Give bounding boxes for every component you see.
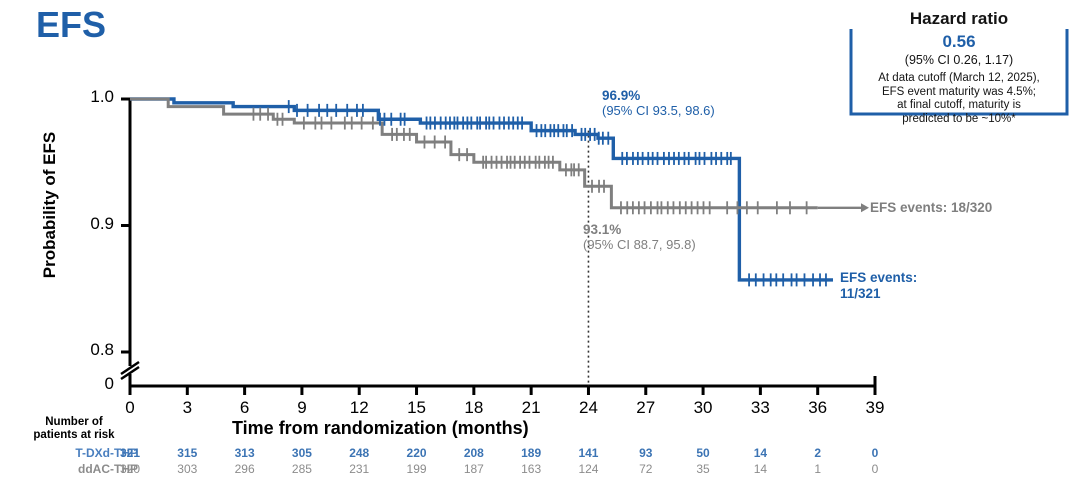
blue-events-line1: EFS events: xyxy=(840,270,917,286)
annotation-blue-milestone: 96.9% (95% CI 93.5, 98.6) xyxy=(602,88,715,118)
gray-milestone-ci: (95% CI 88.7, 95.8) xyxy=(583,237,696,252)
x-tick-label-9: 27 xyxy=(626,398,666,418)
risk-table-header: Number of patients at risk xyxy=(10,416,138,442)
x-tick-label-8: 24 xyxy=(568,398,608,418)
risk-cell-r0-c11: 14 xyxy=(740,446,780,460)
x-tick-label-1: 3 xyxy=(167,398,207,418)
risk-cell-r1-c1: 303 xyxy=(167,462,207,476)
axes-layer xyxy=(121,99,875,395)
x-tick-label-4: 12 xyxy=(339,398,379,418)
risk-cell-r0-c2: 313 xyxy=(225,446,265,460)
risk-header-line1: Number of xyxy=(10,416,138,429)
hazard-ratio-note: At data cutoff (March 12, 2025),EFS even… xyxy=(847,72,1071,126)
blue-milestone-percent: 96.9% xyxy=(602,88,715,103)
risk-cell-r1-c12: 1 xyxy=(798,462,838,476)
y-tick-label-0: 1.0 xyxy=(72,87,114,107)
risk-cell-r1-c5: 199 xyxy=(397,462,437,476)
y-axis-title: Probability of EFS xyxy=(40,95,60,315)
hazard-ratio-ci: (95% CI 0.26, 1.17) xyxy=(843,53,1075,67)
x-tick-label-11: 33 xyxy=(740,398,780,418)
hazard-note-line-1: EFS event maturity was 4.5%; xyxy=(847,86,1071,100)
risk-cell-r0-c1: 315 xyxy=(167,446,207,460)
x-tick-label-10: 30 xyxy=(683,398,723,418)
risk-cell-r1-c6: 187 xyxy=(454,462,494,476)
hazard-ratio-value: 0.56 xyxy=(843,32,1075,52)
risk-cell-r0-c5: 220 xyxy=(397,446,437,460)
y-tick-label-2: 0.8 xyxy=(72,340,114,360)
gray-milestone-percent: 93.1% xyxy=(583,222,696,237)
x-axis-title: Time from randomization (months) xyxy=(232,418,529,439)
x-tick-label-7: 21 xyxy=(511,398,551,418)
hazard-note-line-0: At data cutoff (March 12, 2025), xyxy=(847,72,1071,86)
hazard-ratio-title: Hazard ratio xyxy=(843,9,1075,29)
curves-layer xyxy=(130,99,833,280)
y-tick-label-3: 0 xyxy=(72,374,114,394)
risk-cell-r0-c3: 305 xyxy=(282,446,322,460)
y-tick-label-1: 0.9 xyxy=(72,214,114,234)
risk-cell-r1-c4: 231 xyxy=(339,462,379,476)
risk-header-line2: patients at risk xyxy=(10,429,138,442)
risk-cell-r1-c8: 124 xyxy=(568,462,608,476)
risk-cell-r0-c7: 189 xyxy=(511,446,551,460)
risk-cell-r1-c0: 320 xyxy=(110,462,150,476)
risk-cell-r0-c10: 50 xyxy=(683,446,723,460)
x-tick-label-6: 18 xyxy=(454,398,494,418)
risk-cell-r1-c7: 163 xyxy=(511,462,551,476)
risk-cell-r0-c0: 321 xyxy=(110,446,150,460)
risk-cell-r0-c6: 208 xyxy=(454,446,494,460)
x-tick-label-13: 39 xyxy=(855,398,895,418)
hazard-note-line-3: predicted to be ~10%* xyxy=(847,113,1071,127)
risk-cell-r1-c11: 14 xyxy=(740,462,780,476)
risk-cell-r1-c2: 296 xyxy=(225,462,265,476)
blue-events-label: EFS events: 11/321 xyxy=(840,270,917,302)
risk-cell-r1-c3: 285 xyxy=(282,462,322,476)
risk-cell-r1-c13: 0 xyxy=(855,462,895,476)
annotation-gray-milestone: 93.1% (95% CI 88.7, 95.8) xyxy=(583,222,696,252)
efs-kaplan-meier-figure: EFS Probability of EFS 1.00.90.80 Time f… xyxy=(0,0,1080,481)
blue-milestone-ci: (95% CI 93.5, 98.6) xyxy=(602,103,715,118)
risk-cell-r0-c12: 2 xyxy=(798,446,838,460)
risk-cell-r0-c8: 141 xyxy=(568,446,608,460)
leader-lines-layer xyxy=(818,203,869,280)
km-curve-T-DXd-THP xyxy=(130,99,833,280)
x-tick-label-12: 36 xyxy=(798,398,838,418)
risk-cell-r0-c13: 0 xyxy=(855,446,895,460)
risk-cell-r1-c9: 72 xyxy=(626,462,666,476)
risk-cell-r1-c10: 35 xyxy=(683,462,723,476)
x-tick-label-3: 9 xyxy=(282,398,322,418)
x-tick-label-2: 6 xyxy=(225,398,265,418)
risk-cell-r0-c4: 248 xyxy=(339,446,379,460)
hazard-note-line-2: at final cutoff, maturity is xyxy=(847,99,1071,113)
x-tick-label-5: 15 xyxy=(397,398,437,418)
blue-events-line2: 11/321 xyxy=(840,286,917,302)
x-tick-label-0: 0 xyxy=(110,398,150,418)
risk-cell-r0-c9: 93 xyxy=(626,446,666,460)
gray-events-label: EFS events: 18/320 xyxy=(870,200,992,215)
hazard-ratio-box: Hazard ratio 0.56 (95% CI 0.26, 1.17) At… xyxy=(843,10,1075,118)
